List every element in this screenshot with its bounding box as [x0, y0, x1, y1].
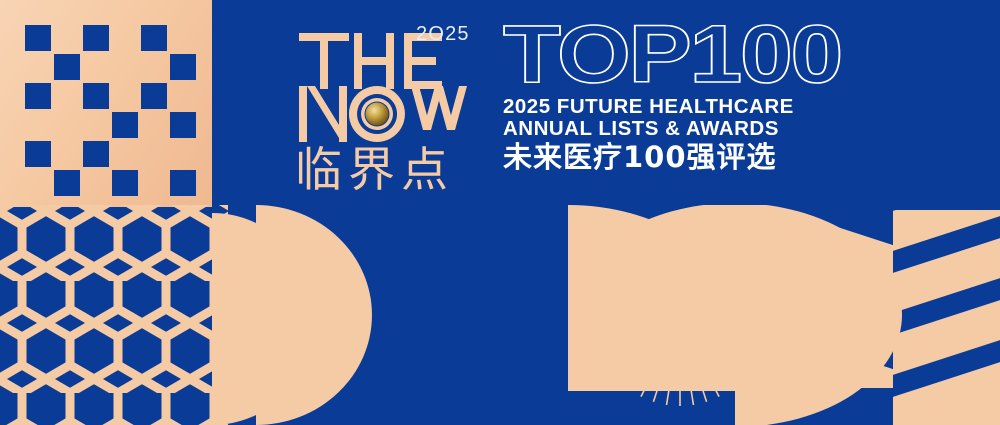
- logo-year: 2O25: [416, 23, 470, 45]
- sunburst-pattern: [592, 232, 768, 408]
- checker-cell: [141, 25, 167, 51]
- diagonal-stripes-group: [785, 210, 1000, 425]
- top100-text: TOP100: [503, 20, 841, 92]
- checker-cell: [83, 83, 109, 109]
- top100-svg: TOP100: [503, 20, 843, 92]
- stripes-svg: [785, 210, 1000, 425]
- headline-line-2: ANNUAL LISTS & AWARDS: [503, 118, 843, 140]
- the-now-logo-svg: 2O25: [292, 18, 487, 193]
- diagonal-stripes-up: [885, 210, 1000, 425]
- checker-cell: [170, 54, 196, 80]
- headline-line-1: 2025 FUTURE HEALTHCARE: [503, 96, 843, 118]
- checker-cell: [83, 25, 109, 51]
- checkerboard-pattern: [0, 0, 212, 207]
- checker-cell: [112, 112, 138, 138]
- diagonal-stripes-down: [785, 210, 903, 425]
- checker-cell: [83, 141, 109, 167]
- checker-cell: [25, 83, 51, 109]
- checker-cell: [54, 170, 80, 196]
- logo-chinese: 临界点: [295, 143, 454, 193]
- the-now-logo: 2O25: [292, 18, 487, 193]
- half-disc-main: [256, 205, 372, 425]
- checker-cell: [54, 54, 80, 80]
- checker-cell: [25, 25, 51, 51]
- checkerboard-svg: [0, 0, 212, 207]
- headline-block: TOP100 2025 FUTURE HEALTHCARE ANNUAL LIS…: [503, 20, 843, 190]
- top100-title: TOP100: [503, 20, 843, 92]
- checker-cell: [141, 83, 167, 109]
- checker-cell: [170, 170, 196, 196]
- checker-cell: [25, 141, 51, 167]
- banner-root: 2O25: [0, 0, 1000, 425]
- checker-cell: [112, 170, 138, 196]
- gold-orb: [361, 98, 393, 130]
- sunburst-svg: [592, 232, 768, 408]
- headline-chinese: 未来医疗100强评选: [503, 141, 843, 173]
- checker-cell: [170, 112, 196, 138]
